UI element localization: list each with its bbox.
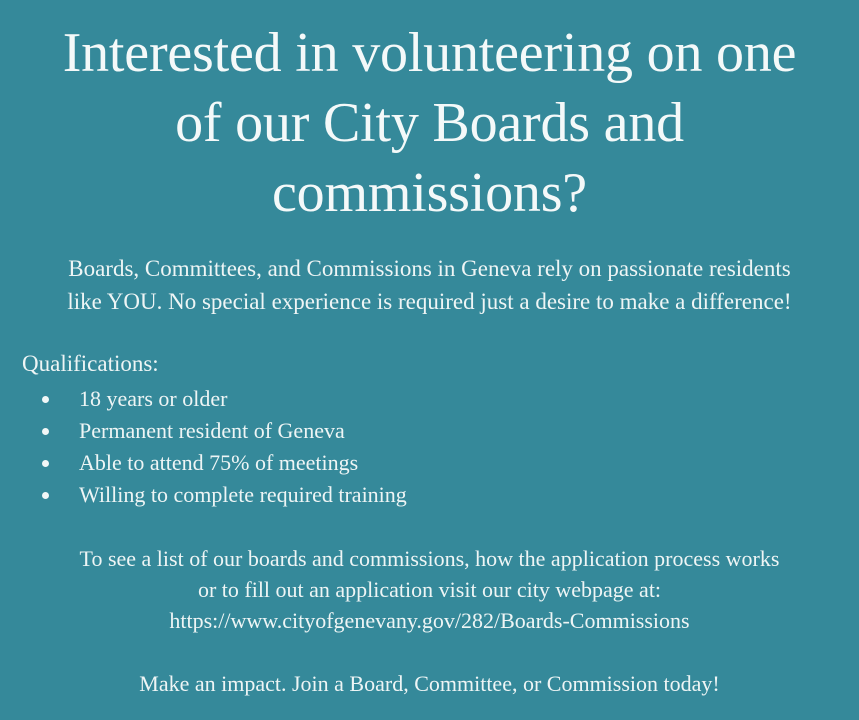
list-item-label: Able to attend 75% of meetings: [79, 450, 358, 475]
list-item-label: 18 years or older: [79, 386, 227, 411]
bullet-icon: [42, 428, 49, 435]
closing-statement: Make an impact. Join a Board, Committee,…: [18, 668, 841, 699]
list-item-label: Permanent resident of Geneva: [79, 418, 345, 443]
lead-line-1: Boards, Committees, and Commissions in G…: [18, 252, 841, 285]
list-item: 18 years or older: [42, 383, 841, 415]
call-to-action-paragraph: To see a list of our boards and commissi…: [18, 543, 841, 636]
headline-line-2: of our City Boards and: [30, 88, 829, 158]
flyer-poster: Interested in volunteering on one of our…: [0, 0, 859, 720]
lead-line-2: like YOU. No special experience is requi…: [18, 285, 841, 318]
bullet-icon: [42, 492, 49, 499]
list-item-label: Willing to complete required training: [79, 482, 407, 507]
qualifications-heading: Qualifications:: [18, 348, 841, 380]
website-url[interactable]: https://www.cityofgenevany.gov/282/Board…: [18, 605, 841, 636]
headline-line-1: Interested in volunteering on one: [30, 18, 829, 88]
list-item: Able to attend 75% of meetings: [42, 447, 841, 479]
body-content: Boards, Committees, and Commissions in G…: [18, 252, 841, 699]
list-item: Permanent resident of Geneva: [42, 415, 841, 447]
bullet-icon: [42, 460, 49, 467]
lead-paragraph: Boards, Committees, and Commissions in G…: [18, 252, 841, 318]
bullet-icon: [42, 396, 49, 403]
cta-line-1: To see a list of our boards and commissi…: [18, 543, 841, 574]
cta-line-2: or to fill out an application visit our …: [18, 574, 841, 605]
list-item: Willing to complete required training: [42, 479, 841, 511]
headline-line-3: commissions?: [30, 158, 829, 228]
page-title: Interested in volunteering on one of our…: [30, 18, 829, 228]
qualifications-list: 18 years or older Permanent resident of …: [18, 383, 841, 511]
